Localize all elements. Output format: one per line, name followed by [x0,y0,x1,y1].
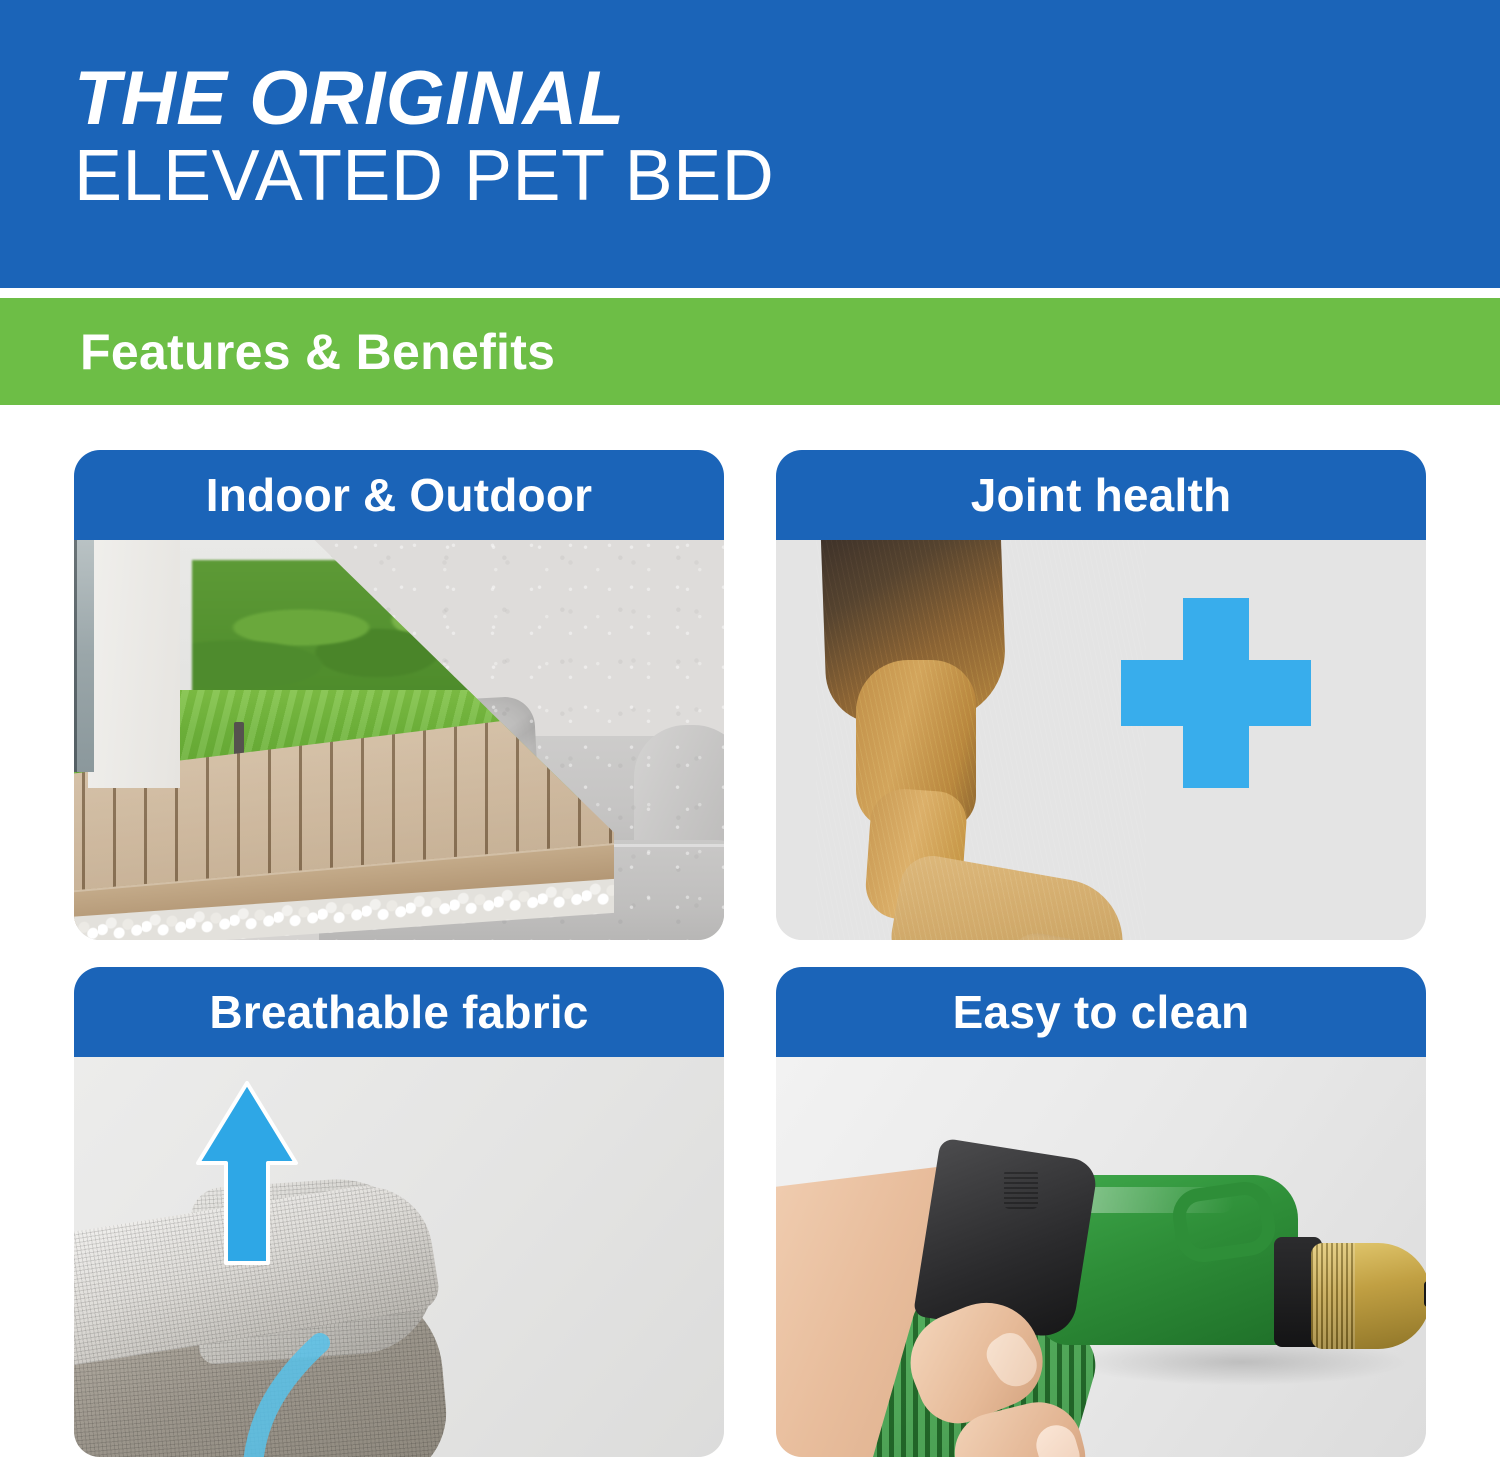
feature-card-title: Indoor & Outdoor [206,468,592,522]
cross-horizontal-bar [1121,660,1311,726]
house-wall-icon [88,540,180,788]
feature-card-title: Easy to clean [953,985,1250,1039]
feature-card-title: Joint health [971,468,1232,522]
hero-banner: THE ORIGINAL ELEVATED PET BED [0,0,1500,288]
feature-card-header: Indoor & Outdoor [74,450,724,540]
brass-nozzle-tip-icon [1311,1243,1426,1349]
features-section-title: Features & Benefits [80,323,555,381]
medical-cross-icon [1121,598,1311,788]
hero-title-primary: THE ORIGINAL [74,62,1374,136]
feature-card-title: Breathable fabric [209,985,588,1039]
hero-title-secondary: ELEVATED PET BED [74,140,1374,213]
feature-card-image-joint-health [776,540,1426,940]
nozzle-outlet-icon [1424,1281,1426,1307]
split-scene [74,540,724,940]
brass-adjust-screw-icon [1004,1169,1038,1209]
airflow-curve-icon [234,1307,354,1457]
feature-card-indoor-outdoor: Indoor & Outdoor [74,450,724,940]
feature-card-easy-to-clean: Easy to clean [776,967,1426,1457]
feature-card-joint-health: Joint health [776,450,1426,940]
feature-card-header: Easy to clean [776,967,1426,1057]
feature-card-image-easy-to-clean [776,1057,1426,1457]
feature-card-grid: Indoor & Outdoor [74,450,1426,1455]
feature-card-image-indoor-outdoor [74,540,724,940]
feature-card-header: Joint health [776,450,1426,540]
feature-card-header: Breathable fabric [74,967,724,1057]
features-section-bar: Features & Benefits [0,298,1500,405]
hero-text-block: THE ORIGINAL ELEVATED PET BED [74,62,1374,214]
up-arrow-icon [192,1077,302,1267]
glass-door-icon [74,540,94,772]
feature-card-breathable-fabric: Breathable fabric [74,967,724,1457]
feature-card-image-breathable-fabric [74,1057,724,1457]
